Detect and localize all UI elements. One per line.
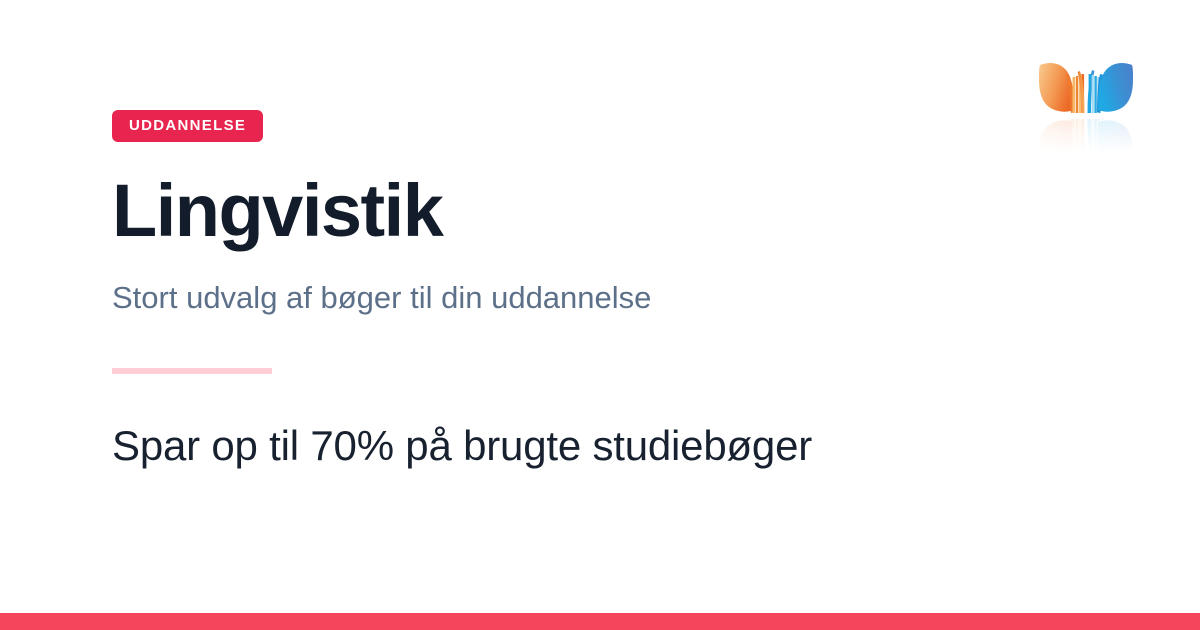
promo-headline: Spar op til 70% på brugte studiebøger [112,422,1012,469]
bottom-accent-bar [0,613,1200,630]
book-butterfly-logo [1036,52,1136,152]
logo-main-mark [1039,63,1133,113]
content-column: UDDANNELSE Lingvistik Stort udvalg af bø… [112,0,1012,469]
category-badge: UDDANNELSE [112,110,263,142]
divider-rule [112,368,272,374]
og-card: UDDANNELSE Lingvistik Stort udvalg af bø… [0,0,1200,630]
page-title: Lingvistik [112,174,1012,248]
page-subtitle: Stort udvalg af bøger til din uddannelse [112,280,1012,316]
